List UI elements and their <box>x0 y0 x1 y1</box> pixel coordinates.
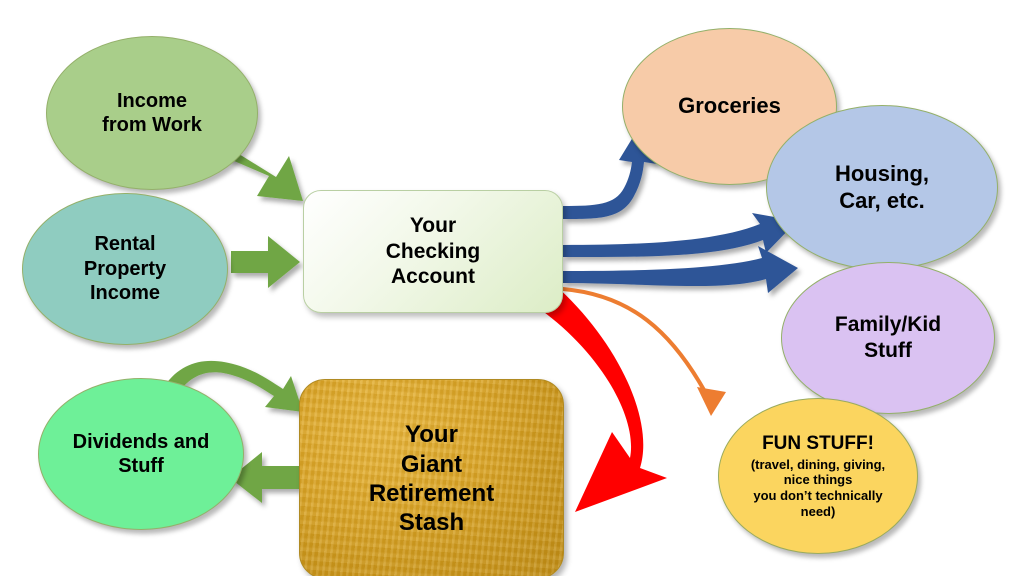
node-fun-stuff[interactable]: FUN STUFF! (travel, dining, giving, nice… <box>718 398 918 554</box>
node-your-giant-retirement-stash[interactable]: Your Giant Retirement Stash <box>299 379 564 576</box>
node-label: Groceries <box>672 93 787 120</box>
node-label: Rental Property Income <box>78 232 172 305</box>
node-rental-property-income[interactable]: Rental Property Income <box>22 193 228 345</box>
fun-stuff-title: FUN STUFF! <box>762 433 874 455</box>
arrow-checking-to-family <box>563 246 798 293</box>
node-dividends-and-stuff[interactable]: Dividends and Stuff <box>38 378 244 530</box>
node-income-from-work[interactable]: Income from Work <box>46 36 258 190</box>
node-label: Family/Kid Stuff <box>829 312 947 363</box>
node-label: Housing, Car, etc. <box>829 161 935 215</box>
node-label: Your Checking Account <box>380 213 487 290</box>
cash-flow-diagram: Income from Work Rental Property Income … <box>0 0 1024 576</box>
arrow-checking-to-fun-stuff <box>563 289 726 416</box>
node-your-checking-account[interactable]: Your Checking Account <box>303 190 563 313</box>
node-housing-car-etc[interactable]: Housing, Car, etc. <box>766 105 998 270</box>
node-label: Income from Work <box>96 89 208 138</box>
node-family-kid-stuff[interactable]: Family/Kid Stuff <box>781 262 995 414</box>
arrow-checking-to-housing <box>563 213 797 257</box>
fun-stuff-subtext: (travel, dining, giving, nice things you… <box>751 457 885 519</box>
node-label: Dividends and Stuff <box>67 430 216 479</box>
node-label: Your Giant Retirement Stash <box>363 420 500 537</box>
arrow-rental-to-checking <box>231 236 300 288</box>
